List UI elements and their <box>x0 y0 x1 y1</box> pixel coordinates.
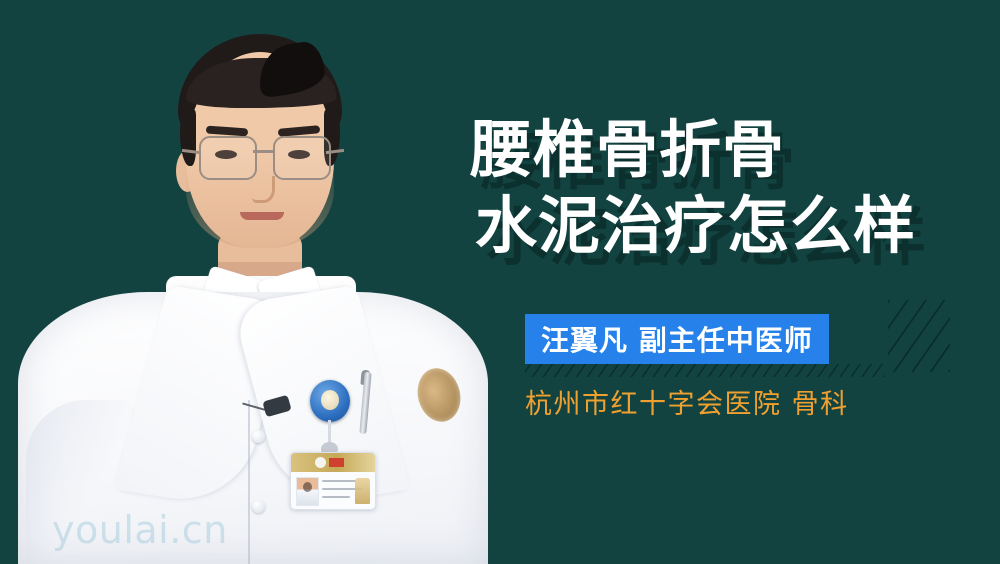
id-badge-card <box>290 452 376 510</box>
id-badge-photo-head <box>303 482 312 492</box>
headline-line-1: 腰椎骨折骨 <box>470 112 990 188</box>
hatch-lines-under-badge <box>525 364 885 377</box>
glasses-bridge <box>253 150 275 153</box>
id-badge-photo <box>296 477 319 506</box>
mouth <box>240 212 284 220</box>
headline-line-2: 水泥治疗怎么样 <box>475 188 990 264</box>
id-badge-watermark <box>355 478 370 504</box>
id-badge-text-line <box>322 496 350 498</box>
glasses-lens-left <box>199 136 257 180</box>
id-badge-text-line <box>322 480 356 482</box>
site-watermark: youlai.cn <box>52 508 228 552</box>
sideburn-left <box>180 110 196 166</box>
presenter-name-and-rank: 汪翼凡 副主任中医师 <box>541 319 813 359</box>
glasses-lens-right <box>273 136 331 180</box>
lab-coat-button <box>252 500 265 513</box>
lab-coat-seam <box>248 400 250 564</box>
hatch-lines-right-of-badge <box>888 300 950 372</box>
video-thumbnail-canvas: 腰椎骨折骨 水泥治疗怎么样 汪翼凡 副主任中医师 杭州市红十字会医院 骨科 yo… <box>0 0 1000 564</box>
doctor-portrait-photo <box>0 0 510 564</box>
badge-reel-emblem <box>321 390 339 410</box>
headline-block: 腰椎骨折骨 水泥治疗怎么样 <box>470 112 990 264</box>
presenter-name-badge: 汪翼凡 副主任中医师 <box>525 314 829 364</box>
id-badge-flag-icon <box>329 458 344 467</box>
nose <box>252 176 275 203</box>
id-badge-seal-dot <box>315 457 326 468</box>
lab-coat-button <box>252 430 265 443</box>
presenter-hospital-department: 杭州市红十字会医院 骨科 <box>525 382 849 421</box>
